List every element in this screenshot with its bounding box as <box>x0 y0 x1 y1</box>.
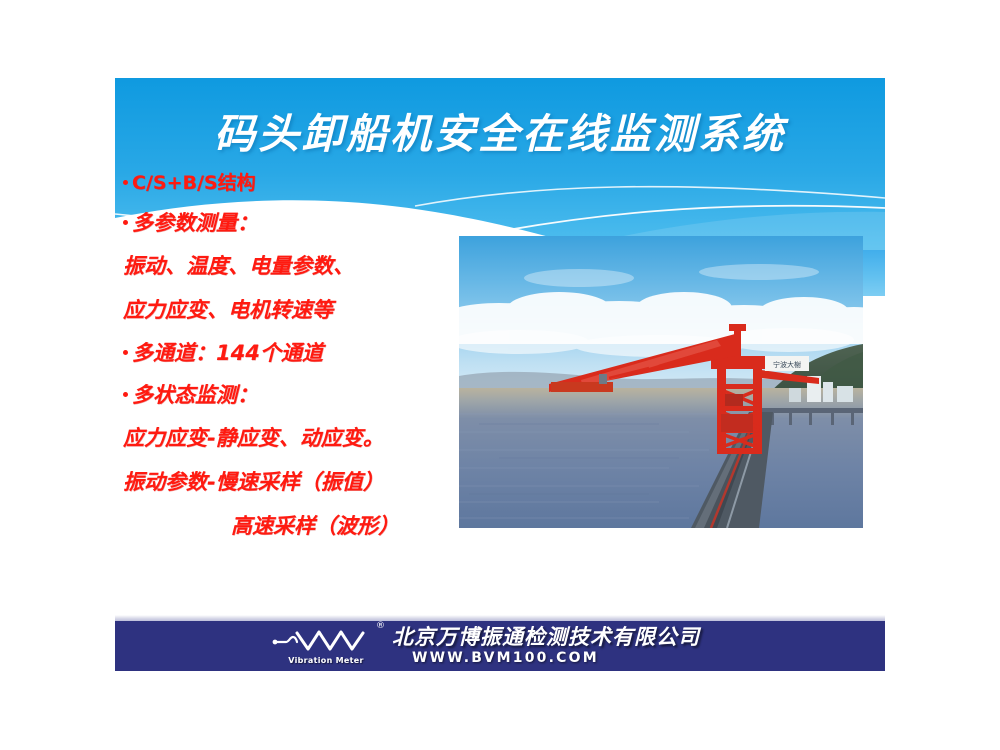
bullet-line-1: C/S+B/S结构 <box>123 164 483 202</box>
bullet-dot-icon <box>123 392 128 397</box>
registered-trademark-icon: ® <box>376 622 385 631</box>
footer-bar: ® Vibration Meter 北京万博振通检测技术有限公司 WWW.BVM… <box>115 621 885 671</box>
company-name: 北京万博振通检测技术有限公司 <box>392 626 700 649</box>
vibration-meter-waveform-icon: ® <box>272 627 380 657</box>
bullet-line-8: 振动参数-慢速采样（振值） <box>123 460 483 504</box>
bullet-line-text: 多状态监测： <box>132 383 258 407</box>
presentation-slide: 码头卸船机安全在线监测系统 C/S+B/S结构 多参数测量： 振动、温度、电量参… <box>115 78 885 671</box>
bullet-line-9: 高速采样（波形） <box>123 504 483 548</box>
logo-subtitle: Vibration Meter <box>288 656 364 665</box>
bullet-list: C/S+B/S结构 多参数测量： 振动、温度、电量参数、 应力应变、电机转速等 … <box>123 164 483 548</box>
bullet-line-7: 应力应变-静应变、动应变。 <box>123 416 483 460</box>
bullet-dot-icon <box>123 180 128 185</box>
bullet-line-2: 多参数测量： <box>123 202 483 244</box>
bullet-line-text: 多参数测量： <box>132 211 258 235</box>
bullet-line-3: 振动、温度、电量参数、 <box>123 244 483 288</box>
bullet-dot-icon <box>123 220 128 225</box>
bullet-line-text: 多通道：144个通道 <box>132 341 323 365</box>
company-logo: ® Vibration Meter <box>272 627 380 665</box>
company-website: WWW.BVM100.COM <box>392 650 599 667</box>
slide-title: 码头卸船机安全在线监测系统 <box>115 100 885 160</box>
bullet-line-6: 多状态监测： <box>123 374 483 416</box>
bullet-line-text: C/S+B/S结构 <box>132 172 256 194</box>
bullet-line-5: 多通道：144个通道 <box>123 332 483 374</box>
bullet-dot-icon <box>123 350 128 355</box>
svg-text:宁波大榭: 宁波大榭 <box>773 360 801 369</box>
bullet-line-4: 应力应变、电机转速等 <box>123 288 483 332</box>
ship-unloader-photo: 宁波大榭 <box>459 236 863 528</box>
